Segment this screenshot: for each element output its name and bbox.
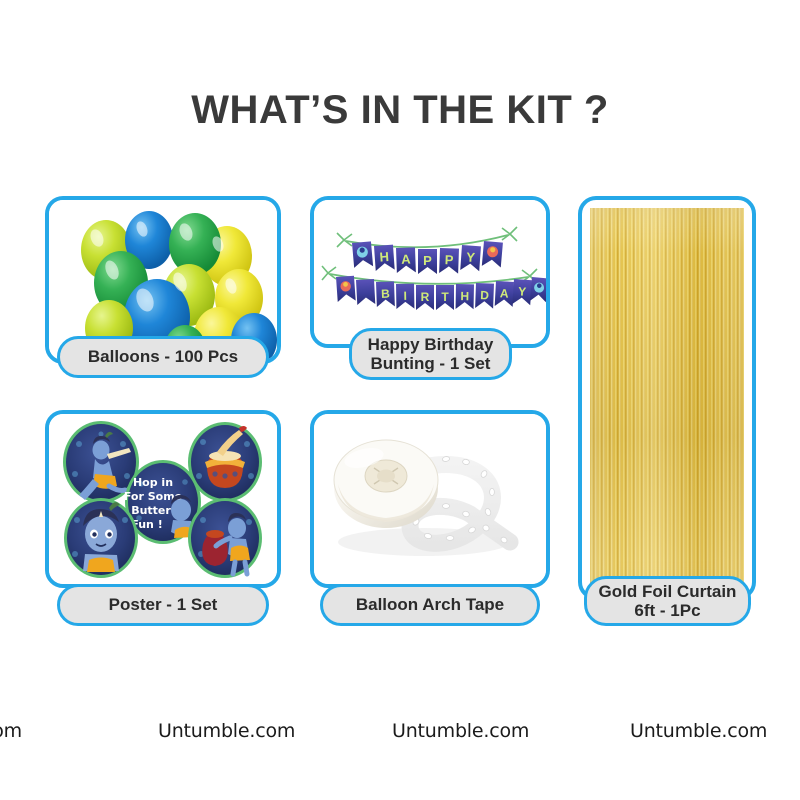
balloon-arch-tape-photo — [314, 414, 546, 584]
poster-illustration: Hop in For Some Butter Fun ! — [49, 414, 277, 584]
watermark-untumble-3: Untumble.com — [630, 720, 767, 742]
svg-text:D: D — [480, 288, 489, 302]
kit-item-card-balloon-arch-tape[interactable] — [310, 410, 550, 588]
kit-item-label-balloon-arch-tape: Balloon Arch Tape — [320, 584, 540, 626]
svg-text:Butter: Butter — [131, 504, 171, 517]
svg-text:P: P — [444, 252, 454, 267]
kit-item-card-gold-foil-curtain[interactable] — [578, 196, 756, 600]
kit-item-label-gold-foil-curtain: Gold Foil Curtain 6ft - 1Pc — [584, 576, 751, 626]
watermark-untumble-1: Untumble.com — [158, 720, 295, 742]
svg-text:Y: Y — [466, 249, 476, 265]
gold-foil-curtain-photo — [582, 200, 752, 596]
kit-item-label-poster: Poster - 1 Set — [57, 584, 269, 626]
bunting-illustration: H A P P — [314, 200, 546, 344]
page-title: WHAT’S IN THE KIT ? — [0, 88, 800, 133]
svg-text:Hop in: Hop in — [133, 476, 173, 489]
krishna-poster-cutouts-photo: Hop in For Some Butter Fun ! — [49, 414, 277, 584]
kit-item-card-poster[interactable]: Hop in For Some Butter Fun ! — [45, 410, 281, 588]
watermark-untumble-0: com — [0, 720, 22, 742]
svg-text:H: H — [460, 289, 469, 303]
svg-text:A: A — [500, 286, 510, 300]
tape-illustration — [314, 414, 546, 584]
svg-text:H: H — [379, 249, 389, 265]
kit-contents-page: WHAT’S IN THE KIT ? — [0, 0, 800, 800]
curtain-vertical-sheen — [590, 208, 744, 588]
happy-birthday-bunting-photo: H A P P — [314, 200, 546, 344]
kit-item-label-balloons: Balloons - 100 Pcs — [57, 336, 269, 378]
watermark-untumble-2: Untumble.com — [392, 720, 529, 742]
svg-text:I: I — [403, 289, 407, 303]
poster-cutout-krishna-portrait — [64, 498, 138, 578]
svg-text:B: B — [381, 287, 390, 301]
svg-text:Y: Y — [518, 284, 527, 299]
svg-text:T: T — [441, 290, 449, 304]
svg-text:R: R — [421, 290, 430, 304]
svg-text:A: A — [401, 251, 412, 266]
kit-item-card-bunting[interactable]: H A P P — [310, 196, 550, 348]
kit-item-label-bunting: Happy Birthday Bunting - 1 Set — [349, 328, 512, 380]
svg-text:P: P — [423, 253, 432, 268]
poster-cutout-krishna-with-pot — [188, 498, 262, 578]
gold-fringe-texture — [590, 208, 744, 588]
